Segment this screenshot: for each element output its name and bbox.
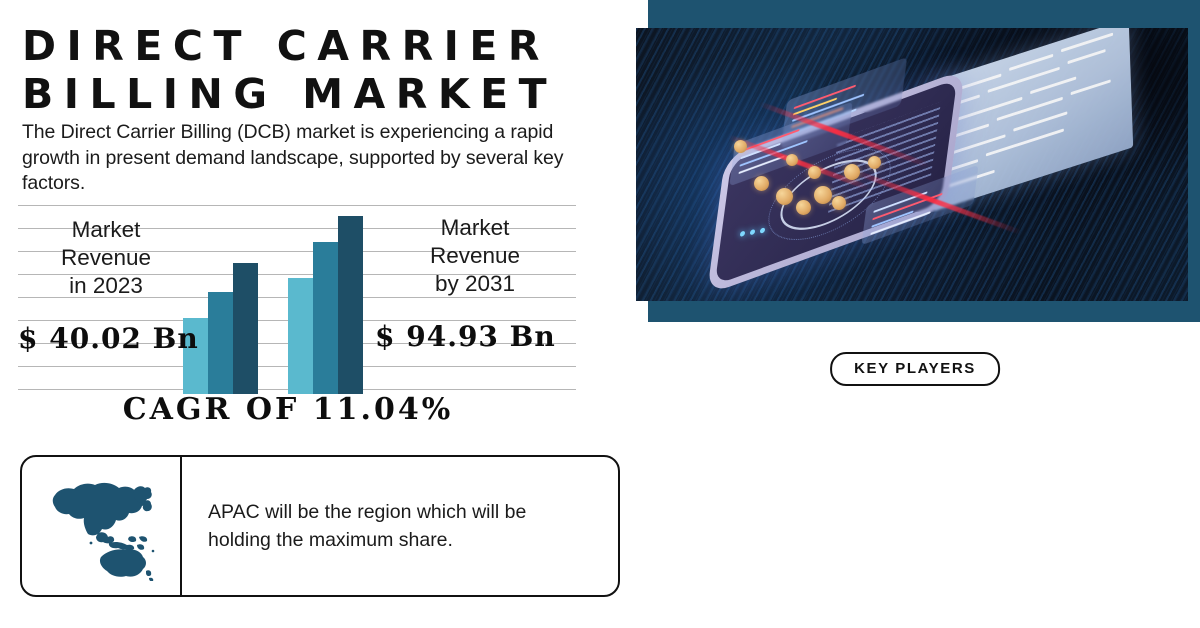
left-column: DIRECT CARRIER BILLING MARKET The Direct… — [0, 0, 630, 628]
hero-coin — [796, 200, 811, 215]
apac-map-icon — [22, 457, 182, 595]
bar-2031-3 — [338, 216, 363, 394]
right-column: KEY PLAYERS — [630, 0, 1200, 628]
key-players-heading: KEY PLAYERS — [830, 352, 1000, 386]
hero-coin — [754, 176, 769, 191]
hero-coin — [844, 164, 860, 180]
hero-coin — [868, 156, 881, 169]
subtitle-text: The Direct Carrier Billing (DCB) market … — [22, 120, 592, 197]
revenue-value-2023: $ 40.02 Bn — [18, 322, 199, 355]
bar-2023-2 — [208, 292, 233, 394]
hero-coin — [786, 154, 798, 166]
hero-image-mobile-payment — [636, 28, 1188, 301]
hero-coin — [814, 186, 832, 204]
hero-coin — [808, 166, 821, 179]
bar-2031-2 — [313, 242, 338, 394]
title-line-1: DIRECT CARRIER — [22, 22, 607, 70]
page-title: DIRECT CARRIER BILLING MARKET — [22, 22, 607, 118]
bar-2023-3 — [233, 263, 258, 394]
hero-coin — [734, 140, 747, 153]
title-line-2: BILLING MARKET — [22, 70, 607, 118]
revenue-label-2031: Market Revenue by 2031 — [380, 214, 570, 298]
bar-2031-1 — [288, 278, 313, 394]
region-callout-box: APAC will be the region which will be ho… — [20, 455, 620, 597]
revenue-value-2031: $ 94.93 Bn — [375, 320, 556, 353]
apac-map-svg — [41, 471, 161, 581]
hero-frame — [648, 0, 1200, 322]
hero-coin — [832, 196, 846, 210]
hero-coin — [776, 188, 793, 205]
region-callout-text: APAC will be the region which will be ho… — [182, 457, 618, 595]
revenue-label-2023: Market Revenue in 2023 — [22, 216, 190, 300]
infographic-page: DIRECT CARRIER BILLING MARKET The Direct… — [0, 0, 1200, 628]
cagr-value: CAGR OF 11.04% — [18, 392, 558, 427]
bar-group-2031 — [288, 216, 363, 394]
